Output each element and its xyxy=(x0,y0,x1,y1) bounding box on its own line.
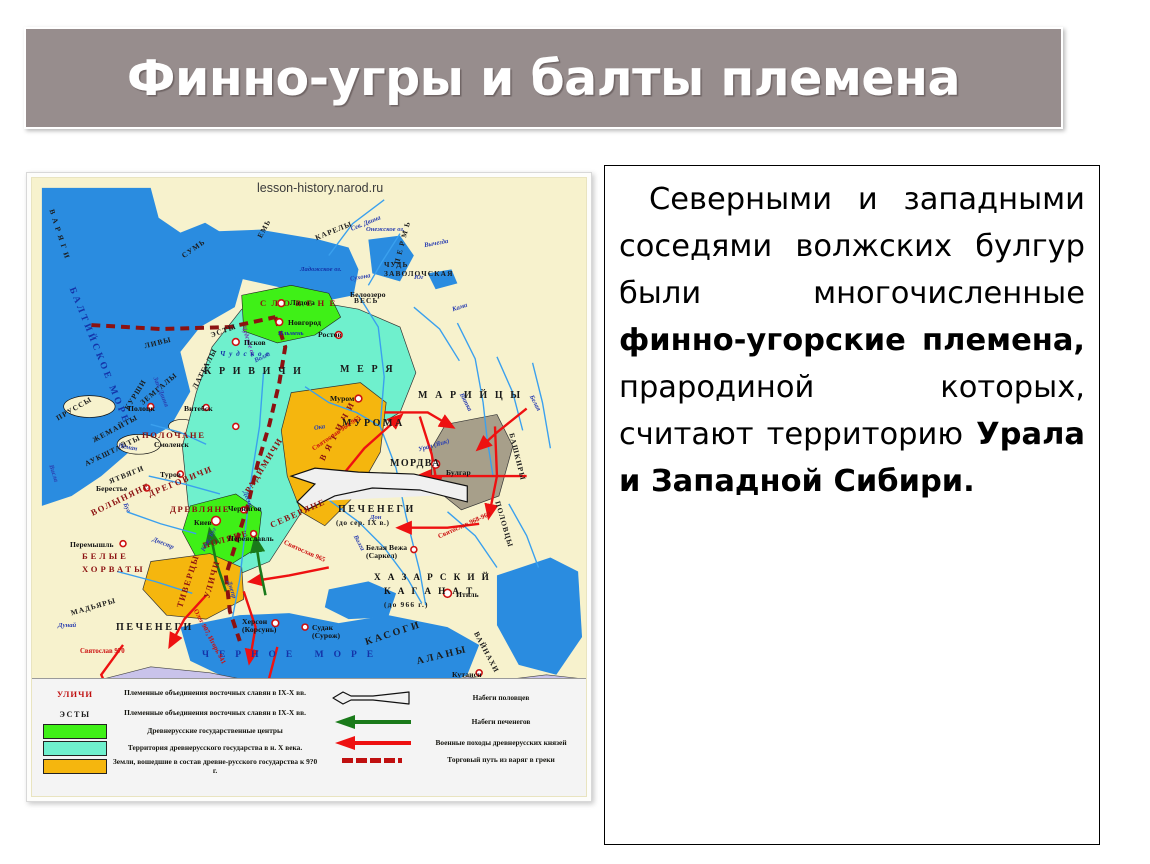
pecheneg-arrow-icon xyxy=(329,714,415,730)
page-title: Финно-угры и балты племена xyxy=(127,50,960,107)
legend-text-rus-campaigns: Военные походы древнерусских князей xyxy=(420,739,582,748)
legend-item-green-centers: Древнерусские государственные центры xyxy=(38,724,318,739)
description-paragraph: Северными и западными соседями волжских … xyxy=(619,176,1085,505)
rus-campaign-arrow-icon xyxy=(329,735,415,751)
legend-text-ulichi: Племенные объединения восточных славян в… xyxy=(112,689,318,698)
paragraph-part-1: Северными и западными соседями волжских … xyxy=(619,182,1085,311)
legend-item-esty: ЭСТЫ Племенные объединения восточных сла… xyxy=(38,704,318,722)
legend-key-green-swatch xyxy=(38,724,112,739)
legend-key-white-arrow xyxy=(324,687,420,709)
legend-key-orange-swatch xyxy=(38,759,112,774)
legend-item-rus-campaigns: Военные походы древнерусских князей xyxy=(324,735,582,751)
legend-key-turquoise-swatch xyxy=(38,741,112,756)
legend-swatch-orange xyxy=(43,759,107,774)
legend-text-pecheneg-raids: Набеги печенегов xyxy=(420,718,582,727)
map-image-panel[interactable]: lesson-history.narod.ru БАЛТИЙСКОЕ МОРЕ … xyxy=(26,172,592,802)
legend-text-esty: Племенные объединения восточных славян в… xyxy=(112,709,318,718)
legend-right-column: Набеги половцев Набеги печенегов xyxy=(320,679,586,796)
legend-item-pecheneg-raids: Набеги печенегов xyxy=(324,714,582,730)
legend-item-turquoise-territory: Территория древнерусского государства в … xyxy=(38,741,318,756)
paragraph-part-2-bold: финно-угорские племена, xyxy=(619,323,1085,358)
legend-text-trade-route: Торговый путь из варяг в греки xyxy=(420,756,582,765)
historical-map: lesson-history.narod.ru БАЛТИЙСКОЕ МОРЕ … xyxy=(31,177,587,797)
legend-left-column: УЛИЧИ Племенные объединения восточных сл… xyxy=(32,679,320,796)
legend-text-polovtsy-raids: Набеги половцев xyxy=(420,694,582,703)
legend-item-trade-route: Торговый путь из варяг в греки xyxy=(324,756,582,765)
map-watermark: lesson-history.narod.ru xyxy=(257,181,383,195)
legend-text-turquoise-territory: Территория древнерусского государства в … xyxy=(112,744,318,753)
legend-key-red-arrow xyxy=(324,735,420,751)
legend-item-polovtsy-raids: Набеги половцев xyxy=(324,687,582,709)
trade-route-dash-icon xyxy=(342,758,402,763)
legend-key-esty-text: ЭСТЫ xyxy=(59,710,90,719)
legend-text-green-centers: Древнерусские государственные центры xyxy=(112,727,318,736)
slide-title-box: Финно-угры и балты племена xyxy=(24,27,1063,129)
legend-key-green-arrow xyxy=(324,714,420,730)
legend-key-ulichi-text: УЛИЧИ xyxy=(57,689,93,699)
map-legend: УЛИЧИ Племенные объединения восточных сл… xyxy=(32,678,586,796)
legend-item-ulichi: УЛИЧИ Племенные объединения восточных сл… xyxy=(38,684,318,702)
legend-key-ulichi: УЛИЧИ xyxy=(38,684,112,702)
legend-text-orange-lands: Земли, вошедшие в состав древне-русского… xyxy=(112,758,318,775)
legend-key-esty: ЭСТЫ xyxy=(38,704,112,722)
polovtsy-arrow-icon xyxy=(329,687,415,709)
legend-item-orange-lands: Земли, вошедшие в состав древне-русского… xyxy=(38,758,318,775)
legend-key-dashed-line xyxy=(324,758,420,763)
description-text-box: Северными и западными соседями волжских … xyxy=(604,165,1100,845)
legend-swatch-turquoise xyxy=(43,741,107,756)
legend-swatch-green xyxy=(43,724,107,739)
